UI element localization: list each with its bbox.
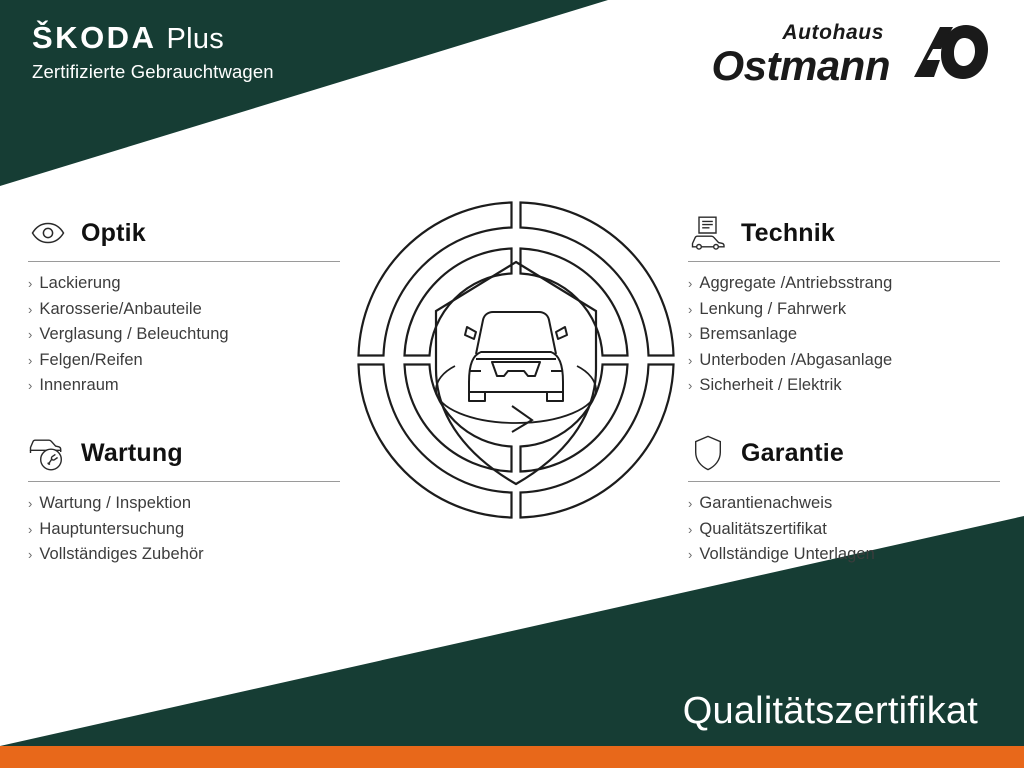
section-technik-divider (688, 261, 1000, 262)
chevron-right-icon: › (688, 523, 692, 536)
section-wartung-divider (28, 481, 340, 482)
list-item: ›Wartung / Inspektion (28, 495, 340, 521)
chevron-right-icon: › (28, 277, 32, 290)
car-wrench-icon (28, 433, 68, 473)
list-item: ›Karosserie/Anbauteile (28, 301, 340, 327)
list-item: ›Innenraum (28, 377, 340, 403)
list-item: ›Bremsanlage (688, 326, 1000, 352)
ao-monogram-icon (900, 23, 990, 86)
section-technik-title: Technik (741, 219, 835, 248)
vehicle-shield-inspection-emblem (352, 196, 680, 524)
section-optik-divider (28, 261, 340, 262)
section-technik: Technik ›Aggregate /Antriebsstrang ›Lenk… (688, 212, 1000, 403)
orange-accent-bar (0, 746, 1024, 768)
list-item-label: Wartung / Inspektion (39, 495, 191, 512)
dealer-wordmark: Autohaus Ostmann (711, 22, 890, 87)
skoda-wordmark: ŠKODA (32, 22, 156, 53)
brand-tagline: Zertifizierte Gebrauchtwagen (32, 63, 274, 82)
section-technik-header: Technik (688, 212, 1000, 254)
car-front-icon (465, 312, 567, 401)
list-item: ›Verglasung / Beleuchtung (28, 326, 340, 352)
list-item-label: Qualitätszertifikat (699, 521, 827, 538)
list-item-label: Lackierung (39, 275, 120, 292)
chevron-right-icon: › (28, 328, 32, 341)
section-garantie-list: ›Garantienachweis ›Qualitätszertifikat ›… (688, 495, 1000, 572)
section-technik-list: ›Aggregate /Antriebsstrang ›Lenkung / Fa… (688, 275, 1000, 403)
list-item: ›Lenkung / Fahrwerk (688, 301, 1000, 327)
section-optik-list: ›Lackierung ›Karosserie/Anbauteile ›Verg… (28, 275, 340, 403)
brand-primary-line: ŠKODA Plus (32, 22, 274, 54)
list-item: ›Hauptuntersuchung (28, 521, 340, 547)
section-wartung-header: Wartung (28, 432, 340, 474)
list-item: ›Qualitätszertifikat (688, 521, 1000, 547)
section-wartung-list: ›Wartung / Inspektion ›Hauptuntersuchung… (28, 495, 340, 572)
section-garantie-header: Garantie (688, 432, 1000, 474)
chevron-right-icon: › (28, 548, 32, 561)
list-item: ›Vollständiges Zubehör (28, 546, 340, 572)
list-item-label: Lenkung / Fahrwerk (699, 301, 846, 318)
list-item-label: Innenraum (39, 377, 118, 394)
shield-icon (688, 433, 728, 473)
list-item: ›Sicherheit / Elektrik (688, 377, 1000, 403)
section-garantie-divider (688, 481, 1000, 482)
footer-caption: Qualitätszertifikat (683, 692, 978, 730)
list-item-label: Garantienachweis (699, 495, 832, 512)
dealer-logo: Autohaus Ostmann (711, 22, 990, 87)
list-item-label: Unterboden /Abgasanlage (699, 352, 892, 369)
section-wartung-title: Wartung (81, 439, 183, 468)
chevron-right-icon: › (28, 497, 32, 510)
section-optik: Optik ›Lackierung ›Karosserie/Anbauteile… (28, 212, 340, 403)
orbit-ellipse (436, 366, 596, 432)
certificate-page: ŠKODA Plus Zertifizierte Gebrauchtwagen … (0, 0, 1024, 768)
eye-icon (28, 213, 68, 253)
section-optik-header: Optik (28, 212, 340, 254)
section-wartung: Wartung ›Wartung / Inspektion ›Hauptunte… (28, 432, 340, 572)
list-item-label: Vollständige Unterlagen (699, 546, 874, 563)
list-item-label: Felgen/Reifen (39, 352, 142, 369)
list-item: ›Felgen/Reifen (28, 352, 340, 378)
list-item-label: Hauptuntersuchung (39, 521, 184, 538)
shield-outline (436, 262, 596, 484)
chevron-right-icon: › (28, 354, 32, 367)
chevron-right-icon: › (28, 379, 32, 392)
chevron-right-icon: › (688, 548, 692, 561)
section-garantie-title: Garantie (741, 439, 844, 468)
list-item-label: Sicherheit / Elektrik (699, 377, 841, 394)
list-item: ›Lackierung (28, 275, 340, 301)
chevron-right-icon: › (688, 354, 692, 367)
chevron-right-icon: › (688, 277, 692, 290)
chevron-right-icon: › (28, 303, 32, 316)
list-item-label: Bremsanlage (699, 326, 797, 343)
skoda-plus-brand: ŠKODA Plus Zertifizierte Gebrauchtwagen (32, 22, 274, 82)
document-car-icon (688, 213, 728, 253)
list-item: ›Aggregate /Antriebsstrang (688, 275, 1000, 301)
chevron-right-icon: › (688, 303, 692, 316)
plus-wordmark: Plus (166, 25, 224, 54)
list-item-label: Karosserie/Anbauteile (39, 301, 201, 318)
list-item-label: Aggregate /Antriebsstrang (699, 275, 892, 292)
list-item-label: Verglasung / Beleuchtung (39, 326, 228, 343)
chevron-right-icon: › (688, 497, 692, 510)
chevron-right-icon: › (688, 328, 692, 341)
list-item: ›Vollständige Unterlagen (688, 546, 1000, 572)
list-item: ›Unterboden /Abgasanlage (688, 352, 1000, 378)
chevron-right-icon: › (28, 523, 32, 536)
section-optik-title: Optik (81, 219, 146, 248)
list-item: ›Garantienachweis (688, 495, 1000, 521)
section-garantie: Garantie ›Garantienachweis ›Qualitätszer… (688, 432, 1000, 572)
dealer-name: Ostmann (711, 45, 890, 87)
chevron-right-icon: › (688, 379, 692, 392)
list-item-label: Vollständiges Zubehör (39, 546, 203, 563)
dealer-prefix: Autohaus (782, 22, 884, 43)
